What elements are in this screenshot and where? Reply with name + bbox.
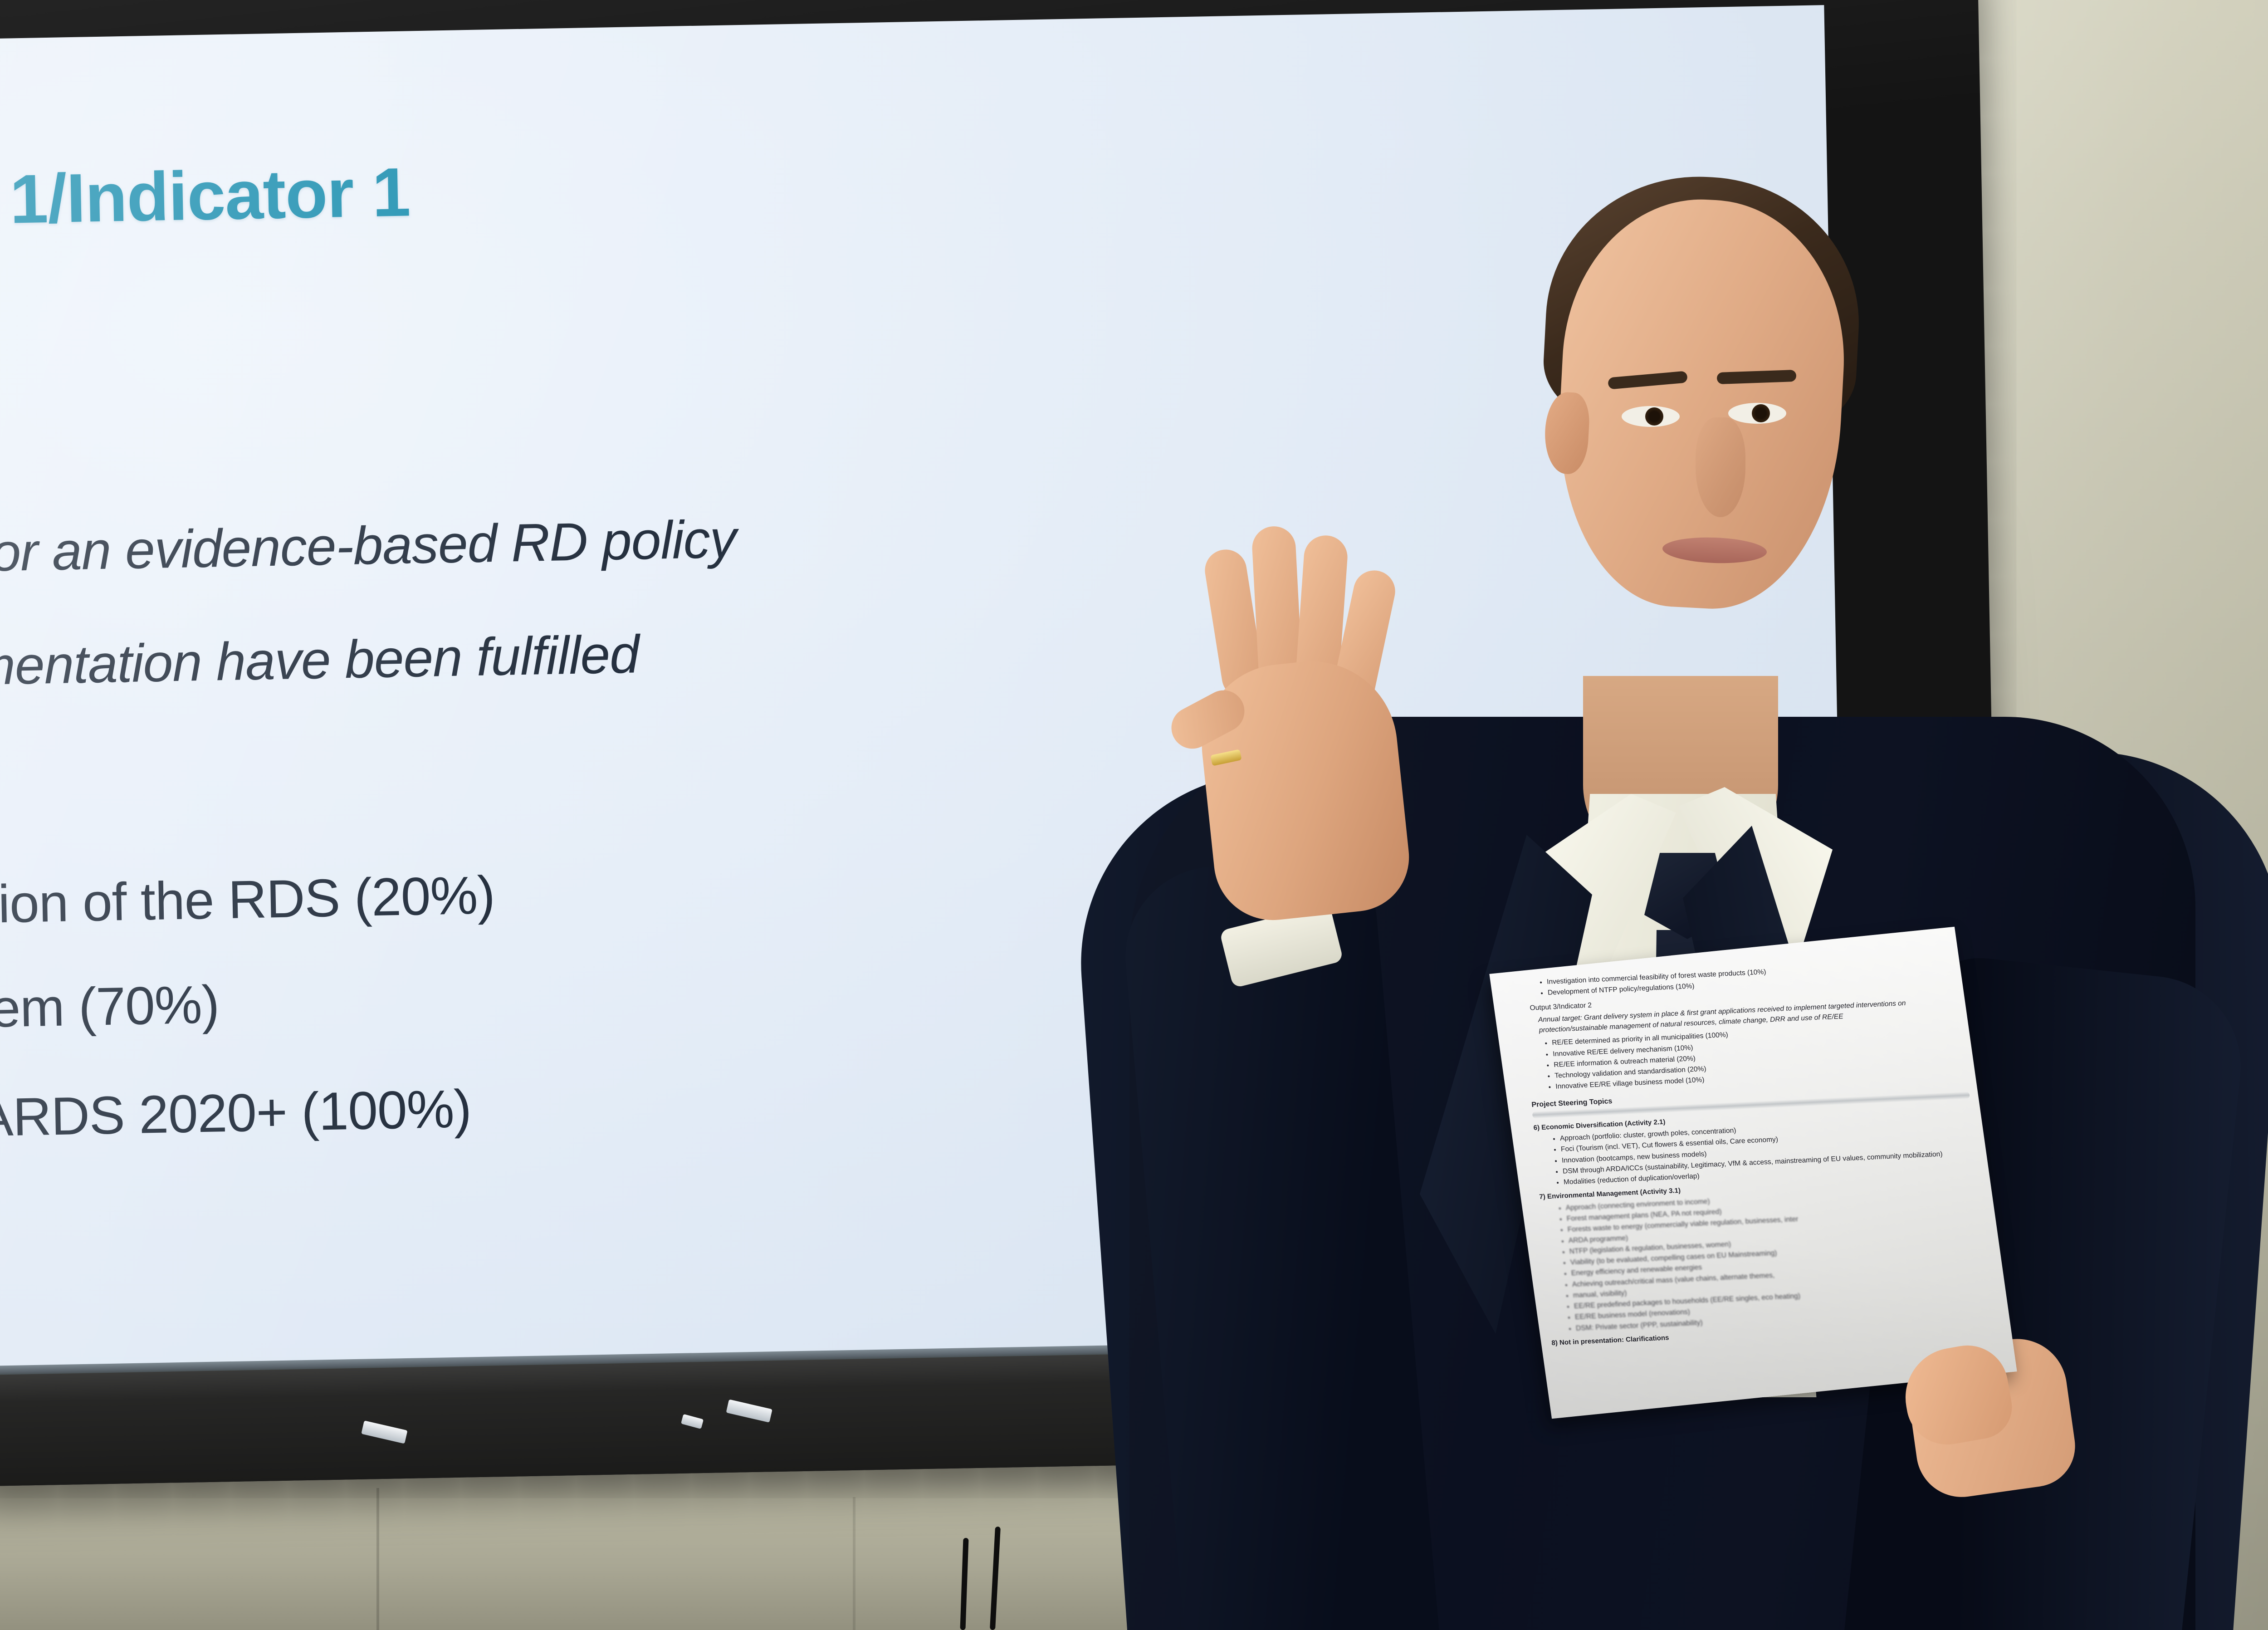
- slide-line-conditions: ...nditions for an evidence-based RD pol…: [0, 508, 737, 588]
- eye-left: [1622, 406, 1680, 427]
- slide-title: Output 1/Indicator 1: [0, 152, 411, 244]
- nose: [1696, 417, 1745, 517]
- eye-right: [1728, 403, 1786, 424]
- slide-line-implementation: ...D implementation have been fulfilled: [0, 623, 640, 701]
- iris: [1752, 404, 1770, 422]
- ear: [1543, 391, 1591, 475]
- handout-bullets-7: Approach (connecting environment to inco…: [1565, 1184, 1988, 1334]
- iris: [1645, 407, 1663, 426]
- slide-bullet-ards: ...he new ARDS 2020+ (100%): [0, 1078, 472, 1153]
- wall-seam: [376, 1488, 379, 1630]
- presentation-photo-scene: Output 1/Indicator 1 ...get ...nditions …: [0, 0, 2268, 1630]
- slide-bullet-me-system: ...&E system (70%): [0, 974, 220, 1043]
- slide-bullet-rds: ...evaluation of the RDS (20%): [0, 864, 495, 939]
- handout-text: Investigation into commercial feasibilit…: [1521, 958, 1989, 1350]
- handout-paper[interactable]: Investigation into commercial feasibilit…: [1489, 927, 2017, 1419]
- presenter: Investigation into commercial feasibilit…: [1075, 127, 2263, 1630]
- wall-seam-secondary: [853, 1497, 855, 1630]
